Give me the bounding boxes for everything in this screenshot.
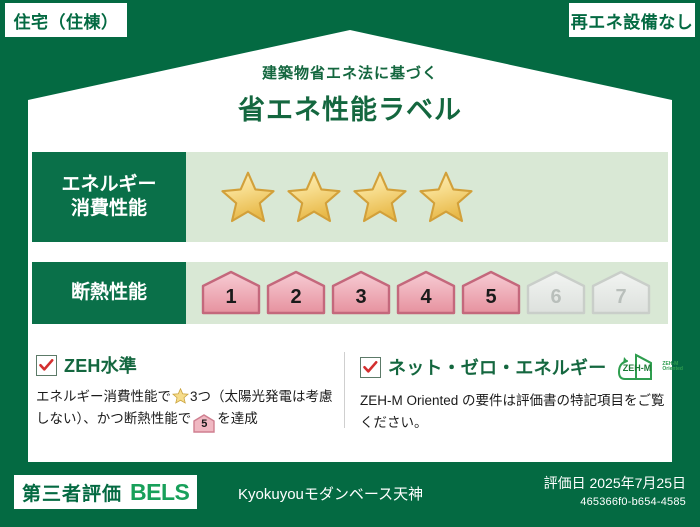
insulation-performance-row: 断熱性能 1234567 — [32, 262, 668, 324]
insulation-performance-label: 断熱性能 — [32, 262, 186, 324]
grade-value: 7 — [615, 286, 626, 316]
insulation-label-text: 断熱性能 — [71, 281, 147, 305]
check-icon — [363, 361, 378, 374]
insulation-grade-1: 1 — [200, 270, 262, 316]
grade-value: 4 — [420, 286, 431, 316]
insulation-grade-3: 3 — [330, 270, 392, 316]
zeh-body-part1: エネルギー消費性能で — [36, 389, 171, 404]
grade-value: 2 — [290, 286, 301, 316]
inline-grade-badge: 5 — [193, 414, 215, 431]
check-icon — [39, 359, 54, 372]
net-zero-energy-note: ネット・ゼロ・エネルギー ZEH-M ZEH-M Oriented ZEH-M … — [360, 352, 668, 434]
insulation-grade-2: 2 — [265, 270, 327, 316]
star-icon — [220, 170, 276, 224]
zeh-m-logo-sub2: Oriented — [662, 367, 683, 372]
grade-value: 1 — [225, 286, 236, 316]
inline-grade-value: 5 — [193, 414, 215, 434]
insulation-grade-7: 7 — [590, 270, 652, 316]
net-zero-checkbox[interactable] — [360, 357, 381, 378]
net-zero-head: ネット・ゼロ・エネルギー ZEH-M ZEH-M Oriented — [360, 352, 668, 382]
bels-logo-text: BELS — [130, 479, 189, 506]
building-type-tag: 住宅（住棟） — [5, 3, 127, 37]
grade-value: 3 — [355, 286, 366, 316]
zeh-m-logo: ZEH-M ZEH-M Oriented — [616, 352, 683, 382]
star-rating — [186, 152, 668, 242]
energy-label-line2: 消費性能 — [71, 197, 147, 221]
renewable-equipment-tag: 再エネ設備なし — [569, 3, 695, 37]
net-zero-body: ZEH-M Oriented の要件は評価書の特記項目をご覧ください。 — [360, 390, 668, 434]
star-icon — [418, 170, 474, 224]
energy-performance-label: エネルギー 消費性能 — [32, 152, 186, 242]
note-divider — [344, 352, 345, 428]
star-icon — [286, 170, 342, 224]
grade-value: 6 — [550, 286, 561, 316]
insulation-grade-scale: 1234567 — [186, 262, 668, 324]
svg-text:ZEH-M: ZEH-M — [623, 363, 652, 373]
insulation-grade-5: 5 — [460, 270, 522, 316]
zeh-standard-title: ZEH水準 — [64, 352, 137, 378]
evaluation-block: 評価日 2025年7月25日 465366f0-b654-4585 — [544, 473, 686, 508]
title-subtitle: 建築物省エネ法に基づく — [0, 62, 700, 83]
third-party-label: 第三者評価 — [22, 479, 122, 506]
evaluation-date: 評価日 2025年7月25日 — [544, 473, 686, 493]
evaluation-id: 465366f0-b654-4585 — [544, 496, 686, 508]
energy-performance-row: エネルギー 消費性能 — [32, 152, 668, 242]
zeh-standard-body: エネルギー消費性能で3つ（太陽光発電は考慮しない）、かつ断熱性能で5を達成 — [36, 386, 336, 431]
energy-label-line1: エネルギー — [61, 173, 156, 197]
star-icon — [352, 170, 408, 224]
bels-badge: 第三者評価 BELS — [14, 475, 197, 509]
zeh-m-house-icon: ZEH-M — [616, 352, 660, 382]
zeh-standard-checkbox[interactable] — [36, 355, 57, 376]
title-main: 省エネ性能ラベル — [0, 88, 700, 127]
zeh-body-part3: を達成 — [217, 411, 258, 426]
net-zero-title: ネット・ゼロ・エネルギー — [388, 354, 606, 380]
inline-star-icon — [172, 388, 189, 404]
title-block: 建築物省エネ法に基づく 省エネ性能ラベル — [0, 62, 700, 127]
insulation-grade-6: 6 — [525, 270, 587, 316]
energy-performance-label: 住宅（住棟） 再エネ設備なし 建築物省エネ法に基づく 省エネ性能ラベル エネルギ… — [0, 0, 700, 527]
building-name: Kyokuyouモダンベース天神 — [238, 483, 423, 504]
zeh-standard-note: ZEH水準 エネルギー消費性能で3つ（太陽光発電は考慮しない）、かつ断熱性能で5… — [36, 352, 336, 431]
insulation-grade-4: 4 — [395, 270, 457, 316]
grade-value: 5 — [485, 286, 496, 316]
footer: 第三者評価 BELS Kyokuyouモダンベース天神 評価日 2025年7月2… — [0, 465, 700, 527]
zeh-standard-head: ZEH水準 — [36, 352, 336, 378]
